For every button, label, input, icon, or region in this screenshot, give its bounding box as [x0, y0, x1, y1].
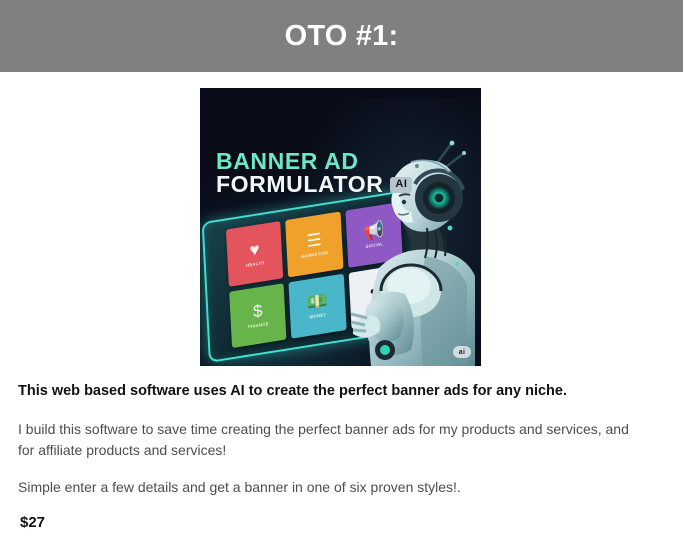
cover-title-line2-row: FORMULATOR AI	[216, 173, 412, 196]
cover-title-line2: FORMULATOR	[216, 173, 383, 196]
page-content: BANNER AD FORMULATOR AI ♥ HEALTH ☰ MARKE…	[0, 72, 683, 531]
banner-ad-formulator-cover-image: BANNER AD FORMULATOR AI ♥ HEALTH ☰ MARKE…	[200, 88, 481, 366]
app-tile-marketing: ☰ MARKETING	[285, 211, 343, 276]
page-header: OTO #1:	[0, 0, 683, 72]
app-tile-finance: $ FINANCE	[229, 283, 287, 348]
description-paragraph-2: Simple enter a few details and get a ban…	[18, 477, 643, 499]
app-tile-label: MONEY	[310, 312, 327, 320]
banknote-icon: 💵	[306, 292, 328, 312]
document-list-icon: ☰	[306, 230, 322, 249]
lead-statement: This web based software uses AI to creat…	[18, 382, 665, 402]
app-tile-label: FINANCE	[248, 321, 269, 329]
ai-watermark: ai	[453, 346, 471, 358]
heart-icon: ♥	[249, 240, 260, 259]
product-image-container: BANNER AD FORMULATOR AI ♥ HEALTH ☰ MARKE…	[0, 72, 683, 366]
app-tile-label: MARKETING	[301, 250, 329, 259]
ai-badge: AI	[390, 177, 412, 193]
sales-copy: This web based software uses AI to creat…	[0, 382, 683, 531]
cover-title-line1: BANNER AD	[216, 150, 412, 173]
app-tile-health: ♥ HEALTH	[226, 221, 284, 286]
app-tile-money: 💵 MONEY	[289, 273, 347, 338]
description-paragraph-1: I build this software to save time creat…	[18, 419, 643, 462]
price-label: $27	[20, 514, 665, 531]
page-title: OTO #1:	[285, 22, 399, 51]
app-tile-label: HEALTH	[246, 260, 265, 268]
dollar-circle-icon: $	[253, 302, 263, 321]
cover-title-block: BANNER AD FORMULATOR AI	[216, 150, 412, 197]
